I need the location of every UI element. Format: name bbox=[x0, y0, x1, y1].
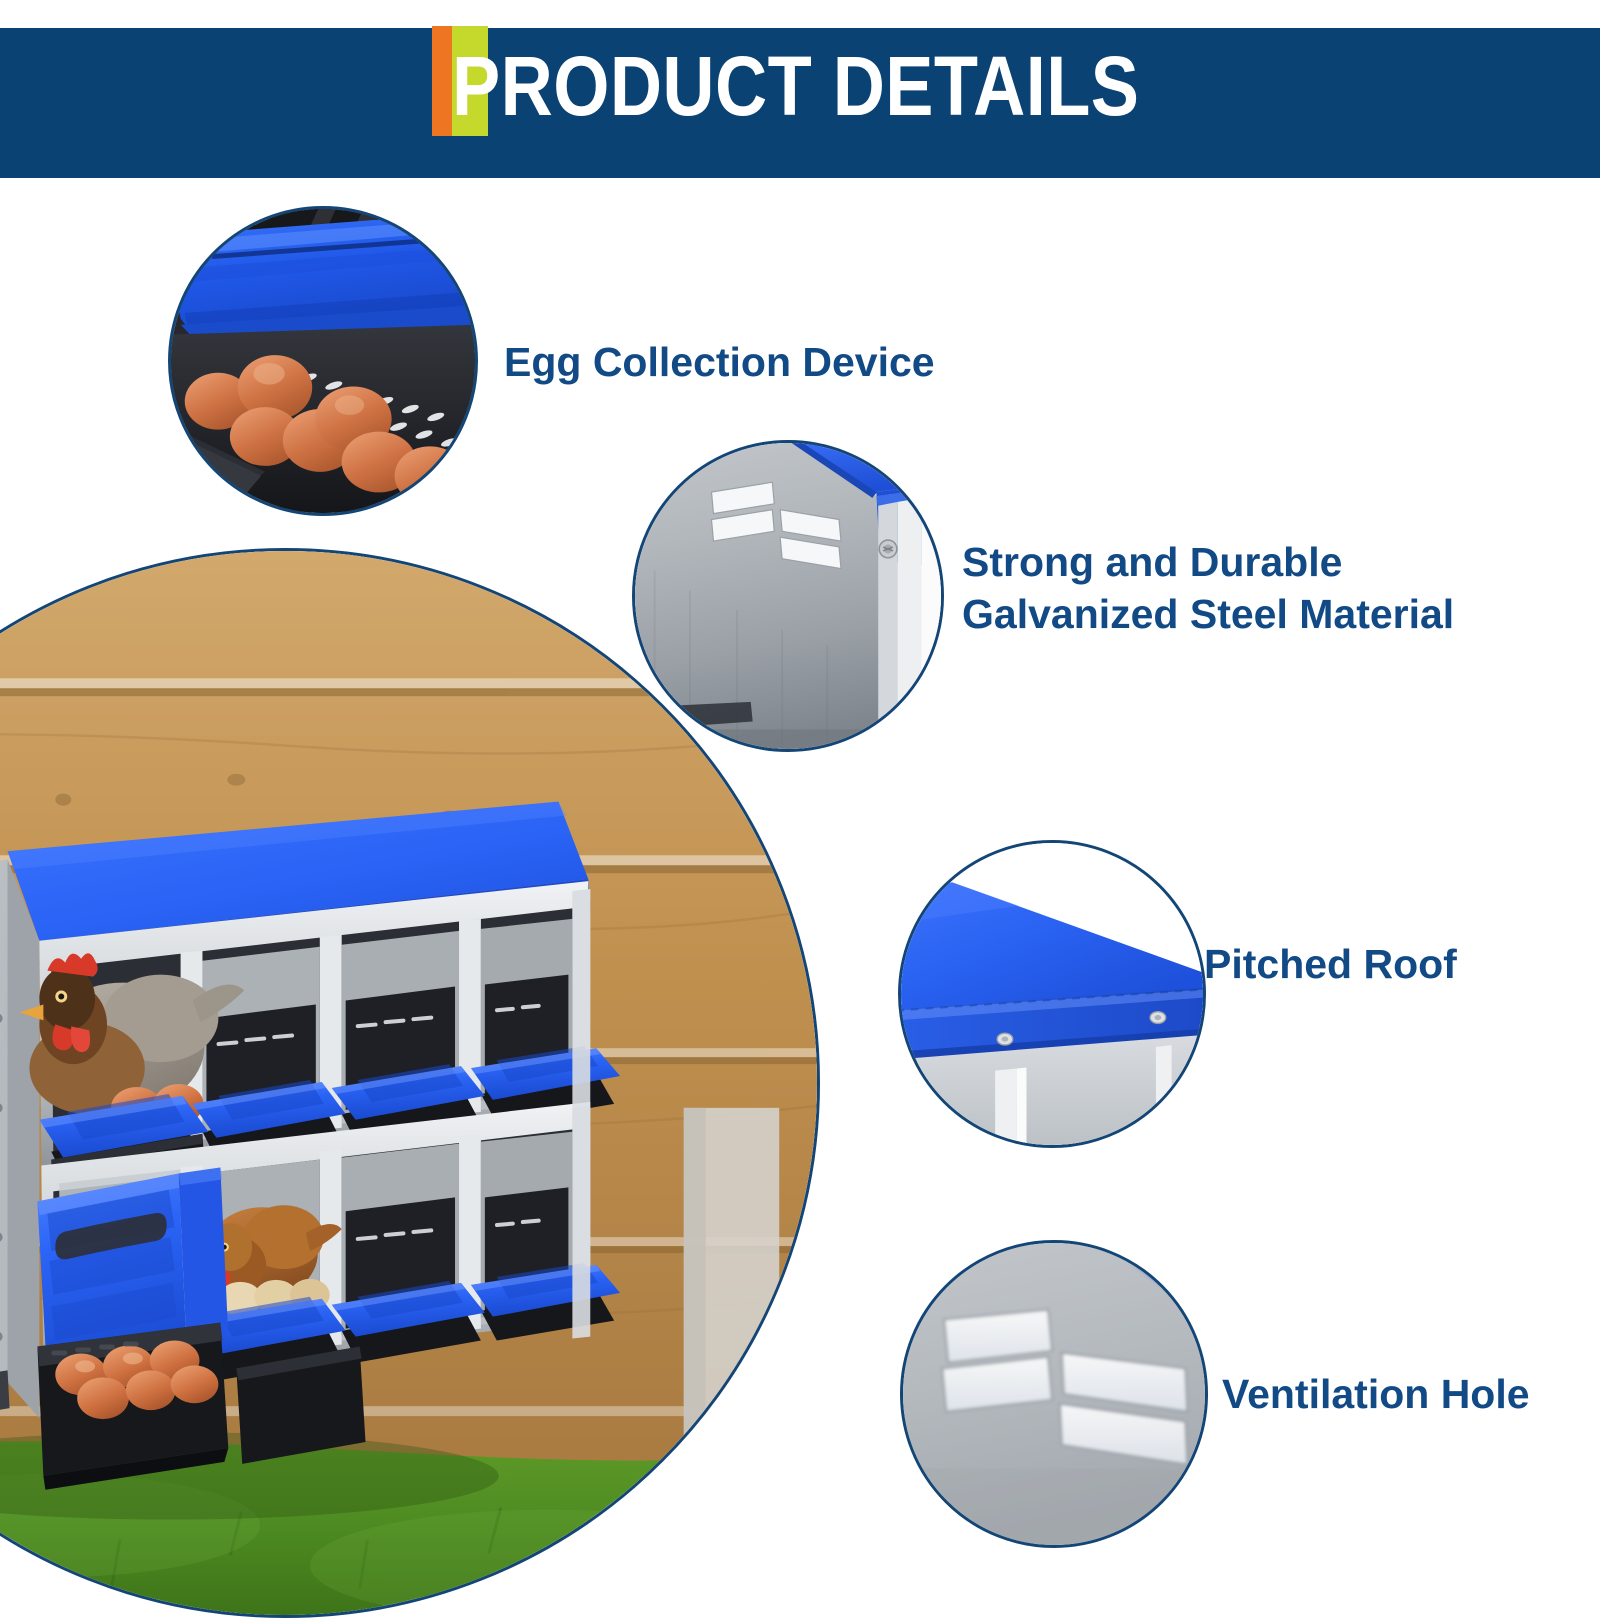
egg-collection-bin bbox=[37, 1323, 228, 1490]
page-title: PRODUCT DETAILS bbox=[452, 44, 1139, 128]
callout-image-pitched-roof bbox=[898, 840, 1206, 1148]
egg-collection-photo-icon bbox=[171, 209, 475, 513]
callout-label-galvanized-steel: Strong and Durable Galvanized Steel Mate… bbox=[962, 536, 1454, 640]
callout-image-ventilation-hole bbox=[900, 1240, 1208, 1548]
callout-image-galvanized-steel bbox=[632, 440, 944, 752]
galvanized-steel-photo-icon bbox=[635, 443, 941, 749]
callout-label-ventilation-hole: Ventilation Hole bbox=[1222, 1368, 1530, 1420]
ventilation-hole-photo-icon bbox=[903, 1243, 1205, 1545]
accent-bar-orange-icon bbox=[432, 26, 452, 136]
pitched-roof-photo-icon bbox=[901, 843, 1203, 1145]
callout-label-egg-collection: Egg Collection Device bbox=[504, 336, 935, 388]
callout-image-egg-collection bbox=[168, 206, 478, 516]
callout-label-pitched-roof: Pitched Roof bbox=[1204, 938, 1457, 990]
galvanized-side-panel bbox=[0, 859, 39, 1444]
